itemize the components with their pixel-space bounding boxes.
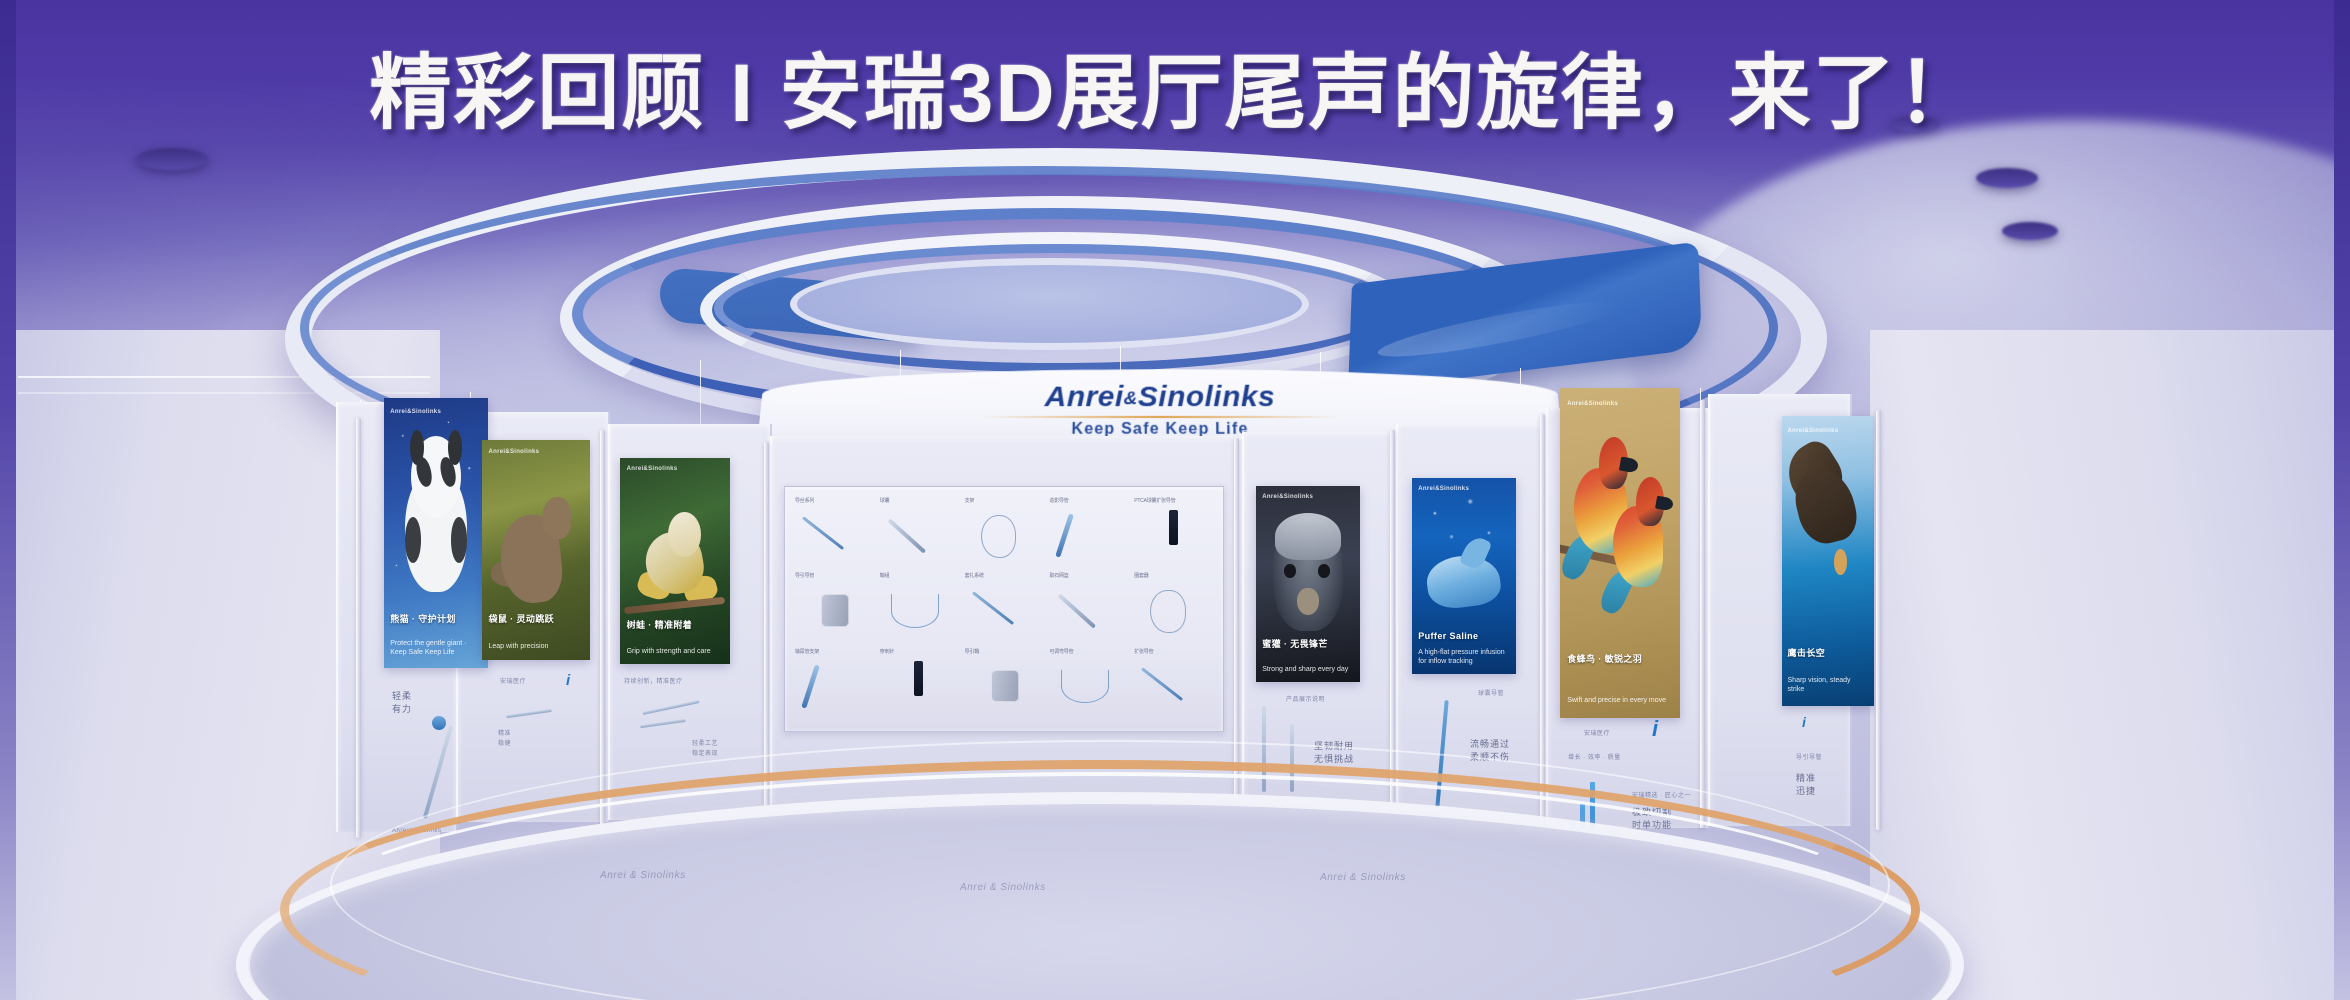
product-device-icon — [1058, 593, 1096, 628]
product-cell[interactable]: 造影导管 — [1047, 497, 1130, 570]
product-device-icon — [891, 594, 939, 627]
poster-footnote-frog: 持续创新，精准医疗 — [624, 676, 683, 685]
product-device-icon — [972, 592, 1014, 626]
wall-right — [1870, 330, 2350, 1000]
poster-subtitle: Strong and sharp every day — [1262, 665, 1354, 674]
ceiling-light-icon — [136, 148, 208, 170]
product-device-icon — [1169, 510, 1178, 545]
badger-eye-icon — [1284, 564, 1295, 578]
poster-caption-eagle: 精准 迅捷 — [1796, 772, 1852, 798]
poster-subtitle: Swift and precise in every move — [1567, 696, 1673, 705]
product-device-icon — [821, 594, 849, 626]
product-label: 支架 — [965, 497, 975, 504]
ceiling-light-icon — [1976, 168, 2038, 188]
support-pole — [1876, 410, 1881, 830]
product-label: 输尿管支架 — [795, 648, 819, 655]
brand-divider — [980, 416, 1340, 418]
support-pole — [356, 418, 361, 838]
frame-edge-left — [0, 0, 16, 1000]
product-label: PTCA球囊扩张导管 — [1134, 497, 1175, 504]
poster-title: 食蜂鸟 · 敏锐之羽 — [1567, 654, 1673, 665]
poster-dolphin[interactable]: Anrei&Sinolinks Puffer Saline A high-fla… — [1412, 478, 1516, 674]
support-pole — [1700, 400, 1705, 828]
poster-title: 熊猫 · 守护计划 — [390, 614, 482, 625]
info-badge-icon: i — [566, 672, 570, 689]
product-cell[interactable]: 套扎系统 — [963, 572, 1046, 645]
product-cell[interactable]: 可调弯导管 — [1047, 648, 1130, 721]
sun-icon — [1834, 549, 1848, 575]
product-device-icon — [802, 516, 844, 550]
badger-eye-icon — [1318, 564, 1329, 578]
poster-logo: Anrei&Sinolinks — [488, 449, 539, 455]
product-cell[interactable]: 导引鞘 — [963, 648, 1046, 721]
poster-kangaroo[interactable]: Anrei&Sinolinks 袋鼠 · 灵动跳跃 Leap with prec… — [482, 440, 590, 660]
product-tip-panda — [432, 716, 446, 730]
exhibition-hall-banner: Anrei&Sinolinks Keep Safe Keep Life Anre… — [0, 0, 2350, 1000]
poster-eagle[interactable]: Anrei&Sinolinks 鹰击长空 Sharp vision, stead… — [1782, 416, 1874, 706]
product-label: 扩张导管 — [1134, 648, 1153, 655]
poster-honey-badger[interactable]: Anrei&Sinolinks 蜜獾 · 无畏锋芒 Strong and sha… — [1256, 486, 1360, 682]
page-title: 精彩回顾 I 安瑞3D展厅尾声的旋律，来了！ — [369, 26, 1980, 145]
branch-shape — [624, 597, 725, 615]
poster-subtitle: Grip with strength and care — [627, 647, 724, 656]
poster-bee-eaters[interactable]: Anrei&Sinolinks 食蜂鸟 · 敏锐之羽 Swift and pre… — [1560, 388, 1680, 718]
poster-subtitle: Sharp vision, steady strike — [1788, 676, 1869, 694]
product-device-icon — [1055, 513, 1074, 558]
badger-cap-shape — [1275, 513, 1342, 560]
poster-subtitle: Protect the gentle giant · Keep Safe Kee… — [390, 639, 482, 657]
poster-logo: Anrei&Sinolinks — [1788, 428, 1839, 434]
poster-caption-frog: 轻柔工艺稳定表现 — [692, 740, 718, 759]
poster-logo: Anrei&Sinolinks — [390, 409, 441, 415]
poster-title: 蜜獾 · 无畏锋芒 — [1262, 639, 1354, 650]
product-label: 导引鞘 — [965, 648, 979, 655]
ceiling-ring-core — [790, 258, 1309, 350]
product-cell[interactable]: 圈套器 — [1132, 572, 1215, 645]
floor-watermark: Anrei & Sinolinks — [1320, 868, 1406, 887]
poster-logo: Anrei&Sinolinks — [627, 466, 678, 472]
product-cell[interactable]: 导丝系列 — [793, 497, 876, 570]
floor-watermark: Anrei & Sinolinks — [960, 878, 1046, 897]
product-device-icon — [914, 661, 923, 696]
product-device-icon — [1150, 590, 1185, 633]
bird-shape — [1613, 474, 1663, 619]
poster-title: 树蛙 · 精准附着 — [627, 620, 724, 631]
product-device-icon — [991, 670, 1019, 702]
brand-ampersand: & — [1124, 389, 1138, 410]
poster-subtitle: A high-flat pressure infusion for inflow… — [1418, 648, 1510, 666]
kangaroo-head-shape — [542, 497, 570, 539]
bird-beak-icon — [1655, 496, 1674, 512]
product-label: 导丝系列 — [795, 497, 814, 504]
product-label: 导引导管 — [795, 572, 814, 579]
product-label: 造影导管 — [1049, 497, 1068, 504]
product-device-icon — [888, 518, 926, 553]
product-cell[interactable]: 球囊 — [878, 497, 961, 570]
poster-footnote-eagle: 导引导管 — [1796, 752, 1822, 761]
info-badge-icon: i — [1802, 714, 1806, 730]
poster-logo: Anrei&Sinolinks — [1418, 486, 1469, 492]
product-cell[interactable]: 鞘组 — [878, 572, 961, 645]
product-device-icon — [1061, 670, 1109, 703]
brand-logo: Anrei&Sinolinks — [760, 381, 1560, 414]
poster-title: 袋鼠 · 灵动跳跃 — [488, 614, 583, 625]
product-label: 可调弯导管 — [1049, 648, 1073, 655]
support-pole — [600, 430, 605, 830]
poster-logo: Anrei&Sinolinks — [1262, 494, 1313, 500]
brand-name-primary: Anrei — [1044, 381, 1123, 413]
product-device-icon — [981, 515, 1016, 558]
poster-tree-frog[interactable]: Anrei&Sinolinks 树蛙 · 精准附着 Grip with stre… — [620, 458, 730, 664]
poster-footnote-birds: 安瑞医疗 — [1584, 728, 1610, 737]
poster-footnote-kangaroo: 安瑞医疗 — [500, 676, 526, 685]
product-cell[interactable]: 取石网篮 — [1047, 572, 1130, 645]
chart-title: 增长 · 效率 · 质量 — [1568, 752, 1621, 761]
poster-footnote-dolphin: 球囊导管 — [1478, 688, 1504, 697]
poster-title: 鹰击长空 — [1788, 648, 1869, 659]
poster-caption-kangaroo: 精准稳健 — [498, 730, 511, 749]
title-area: 精彩回顾 I 安瑞3D展厅尾声的旋律，来了！ — [0, 26, 2350, 145]
poster-panda[interactable]: Anrei&Sinolinks 熊猫 · 守护计划 Protect the ge… — [384, 398, 488, 668]
poster-footnote-badger: 产品展示说明 — [1286, 694, 1325, 703]
poster-logo: Anrei&Sinolinks — [1567, 401, 1618, 407]
product-label: 穿刺针 — [880, 648, 894, 655]
product-label: 鞘组 — [880, 572, 890, 579]
product-cell[interactable]: PTCA球囊扩张导管 — [1132, 497, 1215, 570]
product-label: 球囊 — [880, 497, 890, 504]
frog-head-shape — [668, 512, 701, 557]
product-cell[interactable]: 扩张导管 — [1132, 648, 1215, 721]
product-cell[interactable]: 导引导管 — [793, 572, 876, 645]
ceiling-light-icon — [2002, 222, 2058, 240]
poster-title: Puffer Saline — [1418, 631, 1510, 642]
poster-subtitle: Leap with precision — [488, 642, 583, 651]
info-badge-icon: i — [1652, 716, 1658, 742]
panda-arm-shape — [451, 517, 468, 563]
floor-watermark: Anrei & Sinolinks — [600, 866, 686, 885]
product-cell[interactable]: 支架 — [963, 497, 1046, 570]
product-label: 取石网篮 — [1049, 572, 1068, 579]
product-display-panel[interactable]: 导丝系列球囊支架造影导管PTCA球囊扩张导管导引导管鞘组套扎系统取石网篮圈套器输… — [784, 486, 1224, 732]
product-label: 圈套器 — [1134, 572, 1148, 579]
product-label: 套扎系统 — [965, 572, 984, 579]
product-cell[interactable]: 输尿管支架 — [793, 648, 876, 721]
product-grid: 导丝系列球囊支架造影导管PTCA球囊扩张导管导引导管鞘组套扎系统取石网篮圈套器输… — [793, 497, 1215, 721]
product-device-icon — [801, 664, 820, 709]
frame-edge-right — [2334, 0, 2350, 1000]
poster-caption-panda: 轻柔 有力 — [392, 690, 452, 716]
brand-name-secondary: Sinolinks — [1138, 381, 1276, 413]
product-device-icon — [1141, 667, 1183, 701]
product-cell[interactable]: 穿刺针 — [878, 648, 961, 721]
